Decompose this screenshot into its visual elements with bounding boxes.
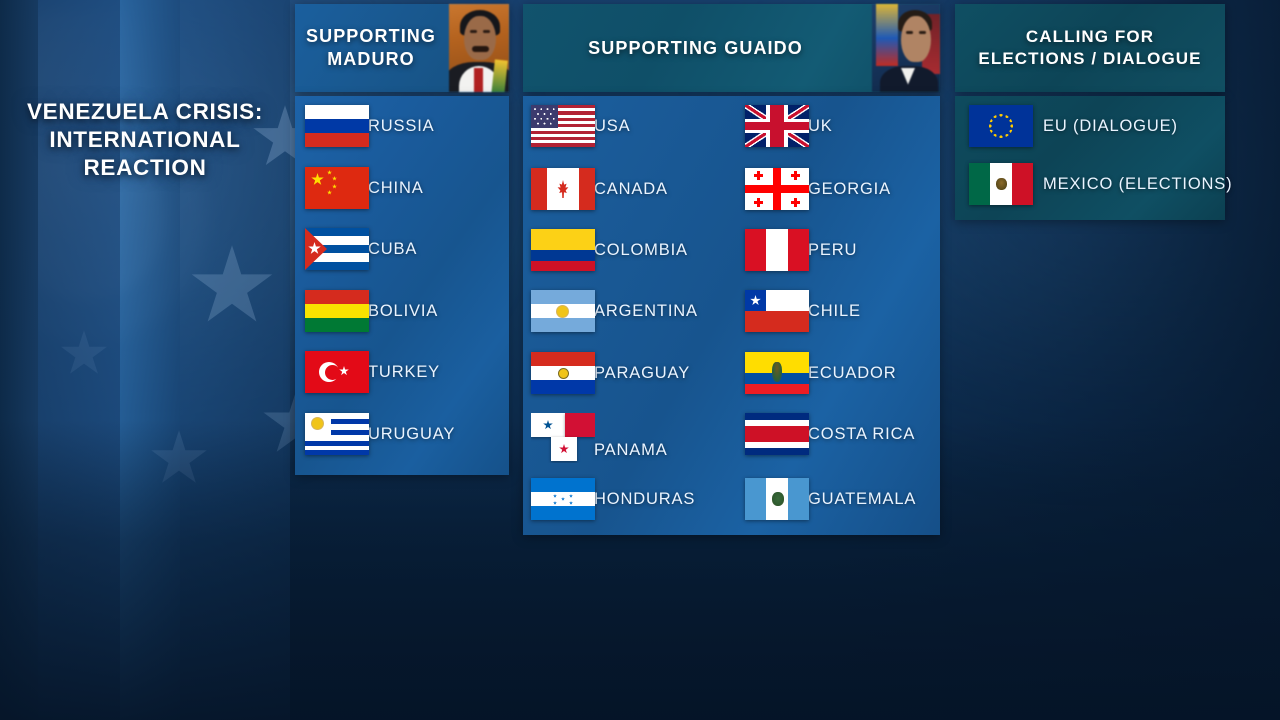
maduro-portrait: [449, 4, 509, 92]
panama-flag: [531, 413, 595, 463]
list-item[interactable]: EU (DIALOGUE): [969, 104, 1178, 148]
country-name: PERU: [808, 241, 857, 260]
list-item[interactable]: ARGENTINA: [531, 289, 698, 333]
country-name: MEXICO (ELECTIONS): [1043, 175, 1233, 194]
argentina-flag: [531, 290, 595, 332]
country-list-calling-for-elections-dialogue: EU (DIALOGUE) MEXICO (ELECTIONS): [955, 96, 1225, 220]
canada-flag: [531, 168, 595, 210]
country-name: RUSSIA: [368, 117, 435, 136]
georgia-flag: [745, 168, 809, 210]
country-name: CUBA: [368, 240, 417, 259]
chile-flag: [745, 290, 809, 332]
list-item[interactable]: ECUADOR: [745, 351, 896, 395]
eu-flag: [969, 105, 1033, 147]
column-body-supporting-maduro: RUSSIA CHINA CUBA: [295, 96, 509, 475]
country-name: HONDURAS: [594, 490, 695, 509]
column-header-line-2: MADURO: [306, 48, 436, 71]
country-name: EU (DIALOGUE): [1043, 117, 1178, 136]
country-name: ARGENTINA: [594, 302, 698, 321]
country-name: CANADA: [594, 180, 668, 199]
country-name: BOLIVIA: [368, 302, 438, 321]
list-item[interactable]: RUSSIA: [305, 104, 435, 148]
country-name: PANAMA: [594, 441, 668, 464]
page-title: VENEZUELA CRISIS: INTERNATIONAL REACTION: [0, 98, 290, 182]
list-item[interactable]: PANAMA: [531, 412, 668, 464]
country-name: UK: [808, 117, 833, 136]
list-item[interactable]: CANADA: [531, 167, 668, 211]
list-item[interactable]: URUGUAY: [305, 412, 455, 456]
colombia-flag: [531, 229, 595, 271]
country-name: GUATEMALA: [808, 490, 916, 509]
list-item[interactable]: UK: [745, 104, 833, 148]
country-name: ECUADOR: [808, 364, 896, 383]
country-name: PARAGUAY: [594, 364, 690, 383]
column-header-calling-for-elections-dialogue: CALLING FOR ELECTIONS / DIALOGUE: [955, 4, 1225, 92]
list-item[interactable]: CHINA: [305, 166, 424, 210]
paraguay-flag: [531, 352, 595, 394]
list-item[interactable]: MEXICO (ELECTIONS): [969, 162, 1233, 206]
column-body-calling-for-elections-dialogue: EU (DIALOGUE) MEXICO (ELECTIONS): [955, 96, 1225, 220]
china-flag: [305, 167, 369, 209]
country-name: CHILE: [808, 302, 861, 321]
column-header-line-1: SUPPORTING GUAIDO: [588, 37, 803, 60]
costarica-flag: [745, 413, 809, 455]
list-item[interactable]: CUBA: [305, 227, 417, 271]
list-item[interactable]: GUATEMALA: [745, 477, 916, 521]
cuba-flag: [305, 228, 369, 270]
country-name: GEORGIA: [808, 180, 891, 199]
list-item[interactable]: USA: [531, 104, 630, 148]
guaido-portrait: [872, 4, 940, 92]
country-name: COSTA RICA: [808, 425, 915, 444]
country-name: CHINA: [368, 179, 424, 198]
peru-flag: [745, 229, 809, 271]
country-name: TURKEY: [368, 363, 440, 382]
list-item[interactable]: GEORGIA: [745, 167, 891, 211]
list-item[interactable]: PARAGUAY: [531, 351, 690, 395]
list-item[interactable]: PERU: [745, 228, 857, 272]
column-header-line-2: ELECTIONS / DIALOGUE: [978, 48, 1201, 70]
country-list-supporting-maduro: RUSSIA CHINA CUBA: [295, 96, 509, 475]
guatemala-flag: [745, 478, 809, 520]
page-title-line-3: REACTION: [0, 154, 290, 182]
ecuador-flag: [745, 352, 809, 394]
country-name: URUGUAY: [368, 425, 455, 444]
list-item[interactable]: BOLIVIA: [305, 289, 438, 333]
mexico-flag: [969, 163, 1033, 205]
country-name: USA: [594, 117, 630, 136]
country-name: COLOMBIA: [594, 241, 688, 260]
list-item[interactable]: COLOMBIA: [531, 228, 688, 272]
column-header-line-1: CALLING FOR: [978, 26, 1201, 48]
country-list-supporting-guaido: USA CANADA COLOMBIA: [523, 96, 940, 535]
list-item[interactable]: COSTA RICA: [745, 412, 915, 456]
page-title-line-1: VENEZUELA CRISIS:: [0, 98, 290, 126]
list-item[interactable]: CHILE: [745, 289, 861, 333]
column-header-line-1: SUPPORTING: [306, 25, 436, 48]
bolivia-flag: [305, 290, 369, 332]
column-body-supporting-guaido: USA CANADA COLOMBIA: [523, 96, 940, 535]
list-item[interactable]: HONDURAS: [531, 477, 695, 521]
uruguay-flag: [305, 413, 369, 455]
page-title-line-2: INTERNATIONAL: [0, 126, 290, 154]
uk-flag: [745, 105, 809, 147]
list-item[interactable]: TURKEY: [305, 350, 440, 394]
honduras-flag: [531, 478, 595, 520]
usa-flag: [531, 105, 595, 147]
turkey-flag: [305, 351, 369, 393]
russia-flag: [305, 105, 369, 147]
